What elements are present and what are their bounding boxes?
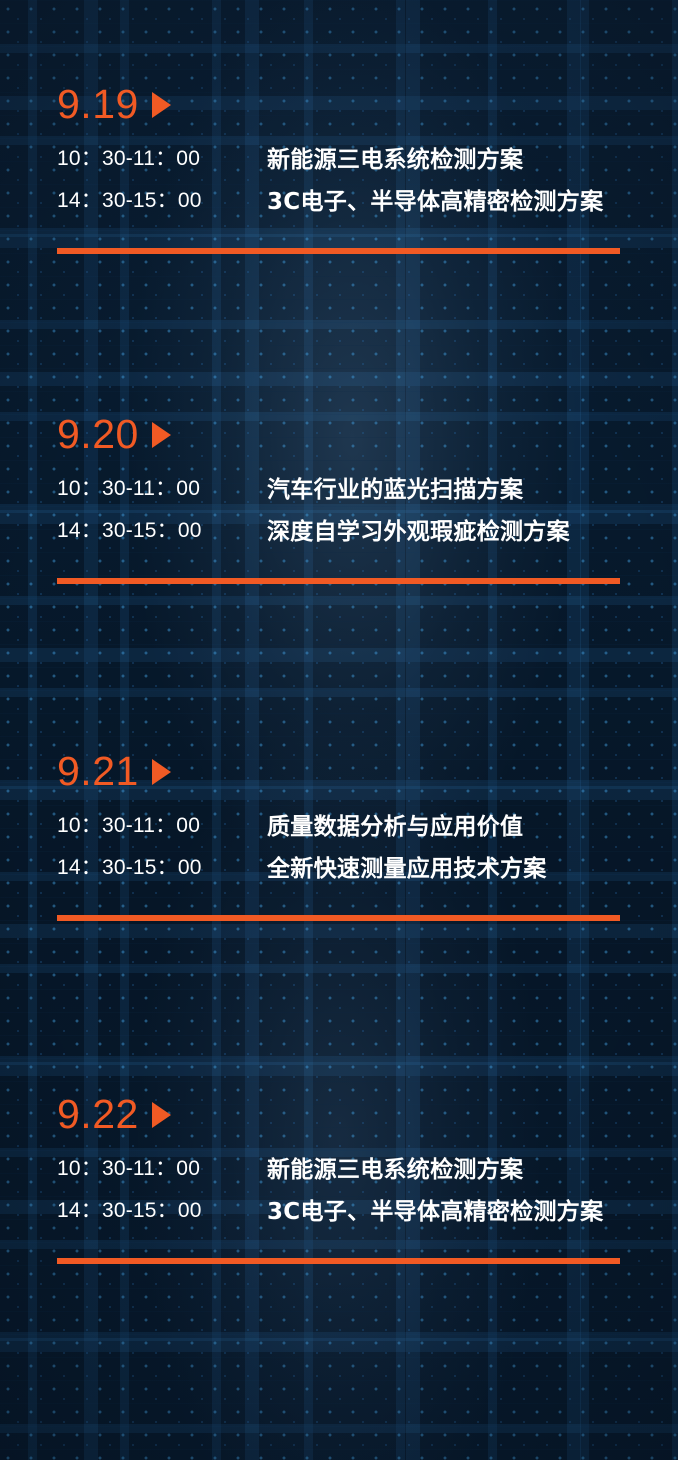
day-header: 9.21 — [57, 745, 678, 797]
triangle-right-icon — [152, 422, 171, 448]
session-row: 14：30-15：00 深度自学习外观瑕疵检测方案 — [57, 516, 678, 549]
session-row: 14：30-15：00 全新快速测量应用技术方案 — [57, 853, 678, 886]
day-divider — [57, 1258, 620, 1264]
session-row: 10：30-11：00 质量数据分析与应用价值 — [57, 811, 678, 844]
day-date: 9.22 — [57, 1094, 139, 1135]
session-row: 14：30-15：00 3C电子、半导体高精密检测方案 — [57, 1196, 678, 1229]
session-time: 10：30-11：00 — [57, 1154, 267, 1184]
session-title: 新能源三电系统检测方案 — [267, 1154, 619, 1187]
triangle-right-icon — [152, 1102, 171, 1128]
day-date: 9.19 — [57, 84, 139, 125]
day-divider — [57, 578, 620, 584]
session-title: 3C电子、半导体高精密检测方案 — [267, 1196, 619, 1229]
triangle-right-icon — [152, 92, 171, 118]
day-divider — [57, 248, 620, 254]
session-time: 14：30-15：00 — [57, 186, 267, 216]
session-list: 10：30-11：00 新能源三电系统检测方案 14：30-15：00 3C电子… — [57, 144, 678, 218]
session-row: 10：30-11：00 汽车行业的蓝光扫描方案 — [57, 474, 678, 507]
agenda-day-section: 9.21 10：30-11：00 质量数据分析与应用价值 14：30-15：00… — [0, 745, 678, 921]
session-row: 14：30-15：00 3C电子、半导体高精密检测方案 — [57, 186, 678, 219]
session-list: 10：30-11：00 质量数据分析与应用价值 14：30-15：00 全新快速… — [57, 811, 678, 885]
session-time: 10：30-11：00 — [57, 474, 267, 504]
day-divider — [57, 915, 620, 921]
triangle-right-icon — [152, 759, 171, 785]
session-time: 14：30-15：00 — [57, 1196, 267, 1226]
agenda-day-section: 9.19 10：30-11：00 新能源三电系统检测方案 14：30-15：00… — [0, 78, 678, 254]
session-title: 新能源三电系统检测方案 — [267, 144, 619, 177]
day-date: 9.21 — [57, 751, 139, 792]
day-header: 9.22 — [57, 1088, 678, 1140]
day-header: 9.20 — [57, 408, 678, 460]
session-title: 3C电子、半导体高精密检测方案 — [267, 186, 619, 219]
session-title: 质量数据分析与应用价值 — [267, 811, 619, 844]
session-list: 10：30-11：00 汽车行业的蓝光扫描方案 14：30-15：00 深度自学… — [57, 474, 678, 548]
session-list: 10：30-11：00 新能源三电系统检测方案 14：30-15：00 3C电子… — [57, 1154, 678, 1228]
agenda-poster: 9.19 10：30-11：00 新能源三电系统检测方案 14：30-15：00… — [0, 0, 678, 1460]
session-row: 10：30-11：00 新能源三电系统检测方案 — [57, 1154, 678, 1187]
session-time: 14：30-15：00 — [57, 516, 267, 546]
day-header: 9.19 — [57, 78, 678, 130]
session-row: 10：30-11：00 新能源三电系统检测方案 — [57, 144, 678, 177]
day-date: 9.20 — [57, 414, 139, 455]
session-title: 汽车行业的蓝光扫描方案 — [267, 474, 619, 507]
session-time: 14：30-15：00 — [57, 853, 267, 883]
session-title: 深度自学习外观瑕疵检测方案 — [267, 516, 619, 549]
agenda-day-section: 9.20 10：30-11：00 汽车行业的蓝光扫描方案 14：30-15：00… — [0, 408, 678, 584]
session-title: 全新快速测量应用技术方案 — [267, 853, 619, 886]
agenda-day-section: 9.22 10：30-11：00 新能源三电系统检测方案 14：30-15：00… — [0, 1088, 678, 1264]
session-time: 10：30-11：00 — [57, 811, 267, 841]
session-time: 10：30-11：00 — [57, 144, 267, 174]
